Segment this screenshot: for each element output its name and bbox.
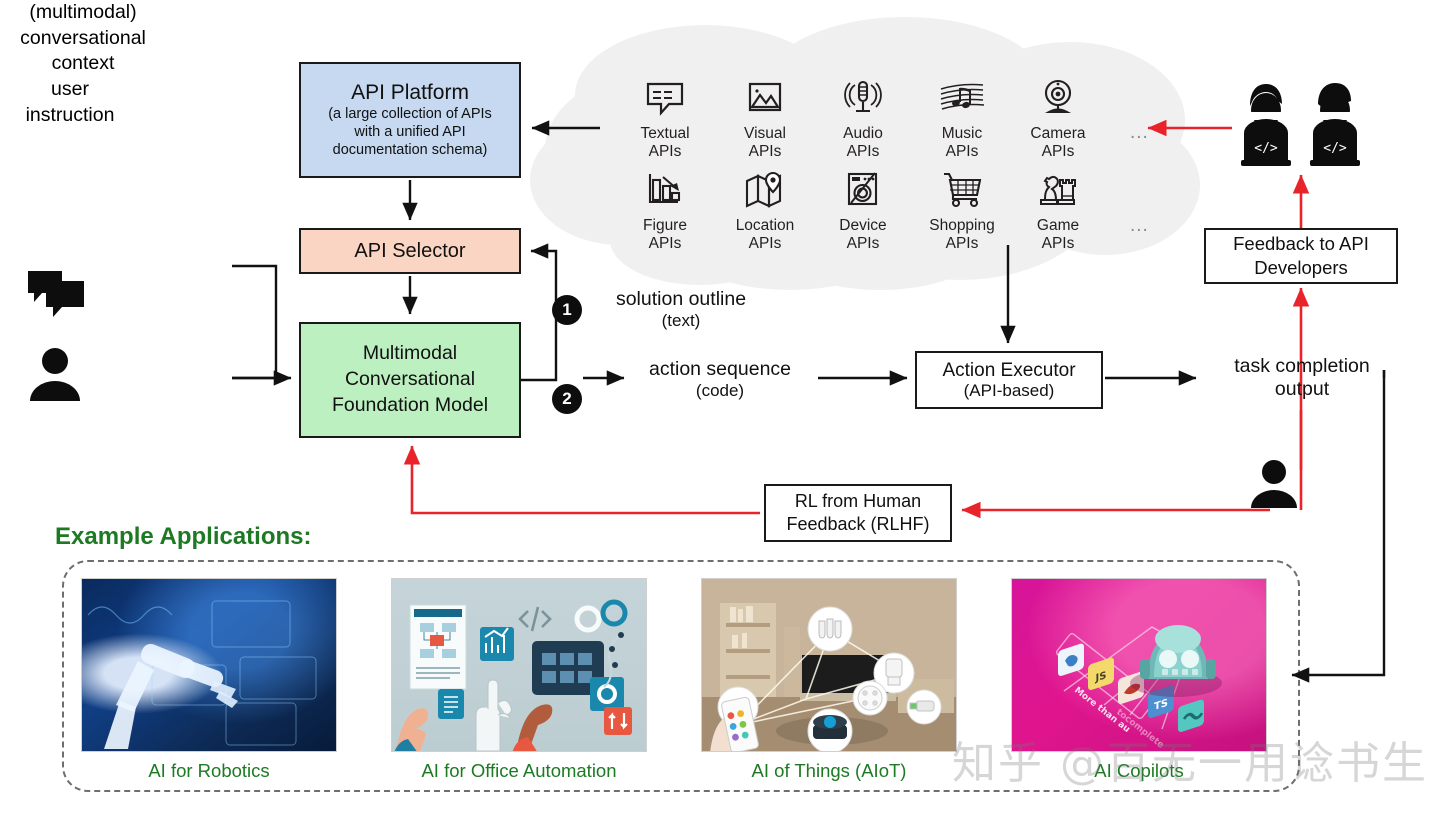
text-bubble-icon (615, 78, 715, 122)
api-item-audio[interactable]: Audio APIs (813, 78, 913, 162)
api-item-shopping-suffix: APIs (912, 235, 1012, 253)
api-item-camera-name: Camera (1008, 125, 1108, 143)
smart-home-thumbnail (701, 578, 957, 752)
office-automation-thumbnail (391, 578, 647, 752)
api-cloud-ellipsis-2: ... (1130, 215, 1149, 237)
chat-bubbles-icon (28, 271, 84, 317)
api-item-audio-suffix: APIs (813, 143, 913, 161)
human-evaluator-person-icon (1251, 460, 1297, 508)
api-item-visual-name: Visual (715, 125, 815, 143)
api-item-location-name: Location (715, 217, 815, 235)
step-marker-1: 1 (552, 295, 582, 325)
api-item-visual[interactable]: Visual APIs (715, 78, 815, 162)
example-applications-heading: Example Applications: (55, 523, 312, 551)
action-sequence-label: action sequence (code) (630, 358, 810, 402)
api-item-device-suffix: APIs (813, 235, 913, 253)
webcam-icon (1008, 78, 1108, 122)
wire-rlhf-to-model (412, 446, 760, 513)
api-item-music-name: Music (912, 125, 1012, 143)
step-marker-1-label: 1 (562, 300, 571, 320)
api-item-shopping-name: Shopping (912, 217, 1012, 235)
api-platform-box[interactable]: API Platform (a large collection of APIs… (299, 62, 521, 178)
foundation-model-box[interactable]: Multimodal Conversational Foundation Mod… (299, 322, 521, 438)
foundation-model-line-3: Foundation Model (332, 393, 488, 419)
api-item-shopping[interactable]: Shopping APIs (912, 170, 1012, 254)
ai-copilot-thumbnail: More than au tocomplete JS TS (1011, 578, 1267, 752)
solution-outline-main: solution outline (592, 288, 770, 311)
api-selector-title: API Selector (354, 240, 465, 262)
action-sequence-main: action sequence (630, 358, 810, 381)
api-item-camera[interactable]: Camera APIs (1008, 78, 1108, 162)
example-caption-robotics: AI for Robotics (81, 760, 337, 782)
api-cloud-ellipsis-1: ... (1130, 122, 1149, 144)
api-platform-subtitle-2: with a unified API (354, 124, 465, 142)
api-item-visual-suffix: APIs (715, 143, 815, 161)
washing-machine-icon (813, 170, 913, 214)
developer-female-icon: </> (1241, 84, 1291, 166)
example-card-office[interactable]: AI for Office Automation (391, 578, 647, 782)
example-card-aiot[interactable]: AI of Things (AIoT) (701, 578, 957, 782)
shopping-cart-icon (912, 170, 1012, 214)
feedback-line-1: Feedback to API (1233, 232, 1369, 256)
task-output-line-1: task completion (1204, 355, 1400, 378)
api-item-audio-name: Audio (813, 125, 913, 143)
bar-chart-arrow-icon (615, 170, 715, 214)
wire-output-to-examples (1292, 370, 1384, 675)
diagram-canvas: </> </> API Platform (a large collection… (0, 0, 1440, 813)
music-notes-icon (912, 78, 1012, 122)
action-sequence-sub: (code) (630, 381, 810, 401)
api-item-location[interactable]: Location APIs (715, 170, 815, 254)
feedback-to-developers-box[interactable]: Feedback to API Developers (1204, 228, 1398, 284)
api-item-textual-suffix: APIs (615, 143, 715, 161)
example-caption-copilots: AI Copilots (1011, 760, 1267, 782)
api-platform-subtitle-3: documentation schema) (333, 142, 488, 160)
wire-context-join (232, 266, 276, 378)
step-marker-2-label: 2 (562, 389, 571, 409)
solution-outline-sub: (text) (592, 311, 770, 331)
rlhf-line-2: Feedback (RLHF) (786, 513, 929, 536)
example-card-copilots[interactable]: More than au tocomplete JS TS (1011, 578, 1267, 782)
api-item-music-suffix: APIs (912, 143, 1012, 161)
map-pin-icon (715, 170, 815, 214)
microphone-icon (813, 78, 913, 122)
svg-text:</>: </> (1254, 141, 1278, 156)
chess-pieces-icon (1008, 170, 1108, 214)
api-item-game-suffix: APIs (1008, 235, 1108, 253)
task-completion-output-label: task completion output (1204, 355, 1400, 402)
image-mountain-icon (715, 78, 815, 122)
api-item-camera-suffix: APIs (1008, 143, 1108, 161)
api-item-textual-name: Textual (615, 125, 715, 143)
action-executor-title: Action Executor (942, 360, 1075, 381)
api-platform-title: API Platform (351, 81, 469, 105)
feedback-line-2: Developers (1254, 256, 1348, 280)
example-card-robotics[interactable]: AI for Robotics (81, 578, 337, 782)
rlhf-box[interactable]: RL from Human Feedback (RLHF) (764, 484, 952, 542)
example-caption-aiot: AI of Things (AIoT) (701, 760, 957, 782)
rlhf-line-1: RL from Human (795, 490, 921, 513)
task-output-line-2: output (1204, 378, 1400, 401)
api-item-textual[interactable]: Textual APIs (615, 78, 715, 162)
step-marker-2: 2 (552, 384, 582, 414)
api-item-location-suffix: APIs (715, 235, 815, 253)
api-item-figure-suffix: APIs (615, 235, 715, 253)
api-selector-box[interactable]: API Selector (299, 228, 521, 274)
action-executor-subtitle: (API-based) (964, 381, 1055, 400)
person-icon (30, 348, 80, 401)
api-item-game-name: Game (1008, 217, 1108, 235)
api-item-game[interactable]: Game APIs (1008, 170, 1108, 254)
foundation-model-line-2: Conversational (345, 367, 475, 393)
solution-outline-label: solution outline (text) (592, 288, 770, 332)
api-item-device-name: Device (813, 217, 913, 235)
api-item-figure[interactable]: Figure APIs (615, 170, 715, 254)
foundation-model-line-1: Multimodal (363, 341, 457, 367)
robotic-arm-thumbnail (81, 578, 337, 752)
api-item-figure-name: Figure (615, 217, 715, 235)
wire-model-to-selector-loop (521, 251, 556, 380)
svg-text:</>: </> (1323, 141, 1347, 156)
api-item-music[interactable]: Music APIs (912, 78, 1012, 162)
example-caption-office: AI for Office Automation (391, 760, 647, 782)
api-platform-subtitle-1: (a large collection of APIs (328, 106, 492, 124)
api-item-device[interactable]: Device APIs (813, 170, 913, 254)
action-executor-box[interactable]: Action Executor (API-based) (915, 351, 1103, 409)
developer-male-icon: </> (1310, 83, 1360, 166)
